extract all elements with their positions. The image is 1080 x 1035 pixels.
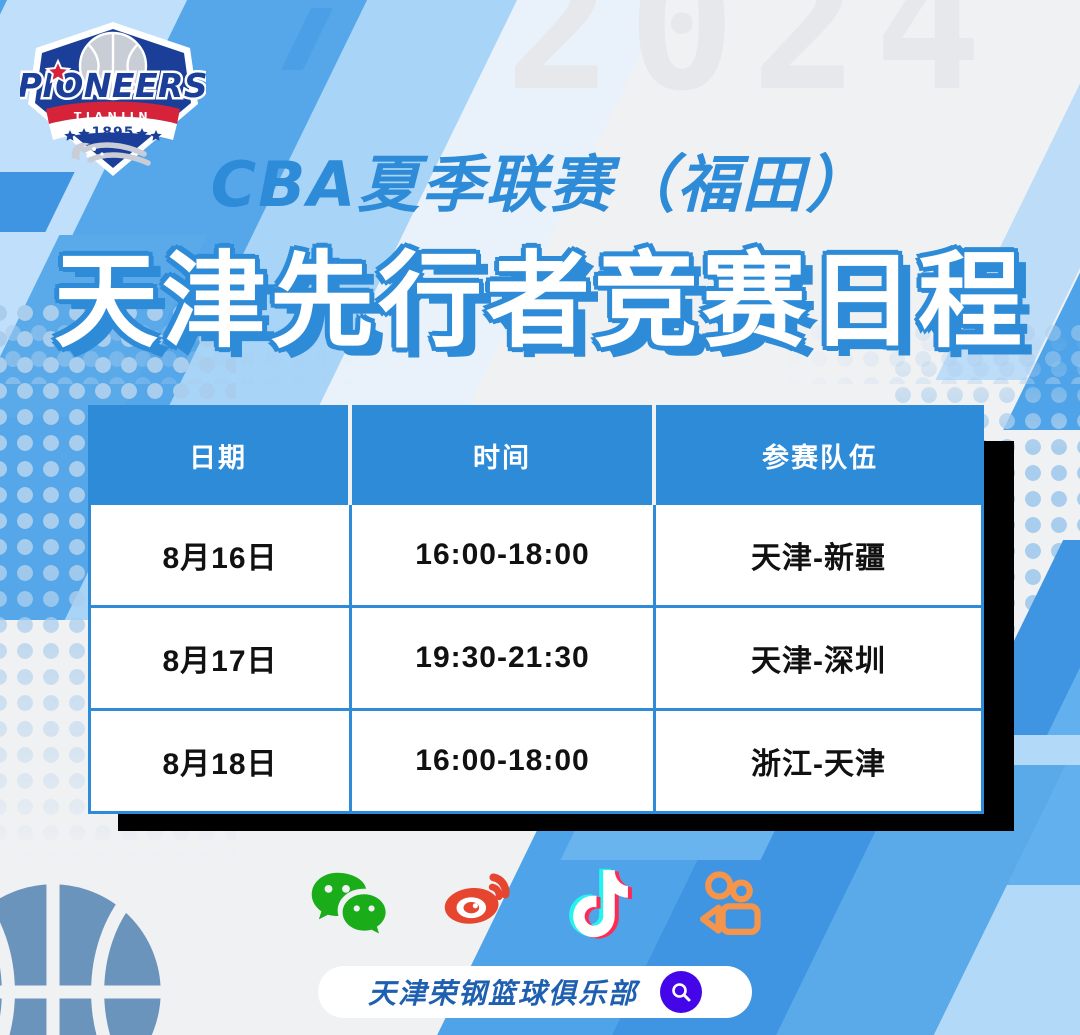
svg-text:PIONEERS: PIONEERS: [20, 66, 206, 105]
poster-canvas: 2024: [0, 0, 1080, 1035]
event-subtitle: CBA夏季联赛（福田）: [0, 134, 1080, 224]
cell-teams: 浙江-天津: [656, 711, 984, 814]
cell-date: 8月16日: [88, 505, 352, 608]
schedule-table: 日期 时间 参赛队伍 8月16日 16:00-18:00 天津-新疆 8月17日…: [88, 405, 984, 814]
cell-teams: 天津-深圳: [656, 608, 984, 711]
club-name-bar: 天津荣钢篮球俱乐部: [318, 966, 752, 1018]
weibo-icon[interactable]: [433, 862, 519, 948]
column-header-teams: 参赛队伍: [656, 405, 984, 505]
cell-date: 8月18日: [88, 711, 352, 814]
cell-teams: 天津-新疆: [656, 505, 984, 608]
year-watermark: 2024: [505, 0, 998, 116]
cell-time: 16:00-18:00: [352, 711, 656, 814]
table-row: 8月16日 16:00-18:00 天津-新疆: [88, 505, 984, 608]
accent-slash: [281, 8, 333, 70]
search-badge[interactable]: [660, 971, 702, 1013]
wechat-icon[interactable]: [305, 862, 391, 948]
cell-time: 16:00-18:00: [352, 505, 656, 608]
table-row: 8月17日 19:30-21:30 天津-深圳: [88, 608, 984, 711]
schedule-table-container: 日期 时间 参赛队伍 8月16日 16:00-18:00 天津-新疆 8月17日…: [88, 405, 984, 814]
douyin-icon[interactable]: [561, 862, 647, 948]
search-icon: [669, 980, 693, 1004]
column-header-date: 日期: [88, 405, 352, 505]
table-row: 8月18日 16:00-18:00 浙江-天津: [88, 711, 984, 814]
table-header-row: 日期 时间 参赛队伍: [88, 405, 984, 505]
club-name-label: 天津荣钢篮球俱乐部: [368, 972, 638, 1012]
cell-time: 19:30-21:30: [352, 608, 656, 711]
cell-date: 8月17日: [88, 608, 352, 711]
column-header-time: 时间: [352, 405, 656, 505]
wechat-channels-icon[interactable]: [689, 862, 775, 948]
page-title: 天津先行者竞赛日程: [0, 216, 1080, 367]
social-icon-row: [0, 862, 1080, 948]
